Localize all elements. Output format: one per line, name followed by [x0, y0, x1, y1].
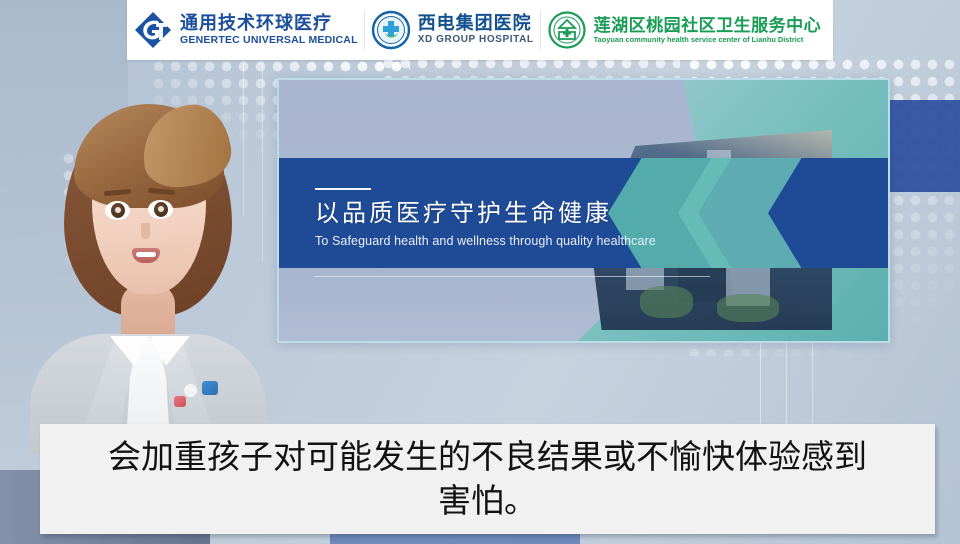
slide-text-block: 以品质医疗守护生命健康 To Safeguard health and well… — [315, 188, 656, 248]
avatar-eye — [105, 201, 130, 220]
gt-diamond-logo-icon — [133, 10, 173, 50]
brand-name-cn: 西电集团医院 — [418, 14, 534, 33]
avatar-lapel-pin — [184, 384, 197, 397]
brand-name-en: XD GROUP HOSPITAL — [418, 35, 534, 46]
avatar-nose — [141, 223, 150, 239]
avatar-lapel-pin — [174, 396, 186, 407]
avatar-eye-highlight — [115, 207, 121, 213]
brand-name-en: Taoyuan community health service center … — [594, 36, 822, 44]
brand-name-cn: 莲湖区桃园社区卫生服务中心 — [594, 17, 822, 35]
slide-title-cn: 以品质医疗守护生命健康 — [315, 201, 656, 228]
avatar-iris — [154, 202, 168, 217]
avatar-iris — [111, 203, 125, 218]
avatar-eye — [148, 200, 173, 219]
avatar-lapel-pin — [202, 381, 218, 395]
slide-rule — [315, 188, 371, 190]
brand-xd-group-hospital: 西电集团医院 XD GROUP HOSPITAL — [365, 0, 540, 60]
brand-name-cn: 通用技术环球医疗 — [180, 14, 358, 33]
subtitle-caption-box: 会加重孩子对可能发生的不良结果或不愉快体验感到 害怕。 — [40, 424, 935, 534]
brand-text: 通用技术环球医疗 GENERTEC UNIVERSAL MEDICAL — [180, 14, 358, 46]
presentation-slide: 以品质医疗守护生命健康 To Safeguard health and well… — [277, 78, 890, 343]
female-presenter-avatar — [22, 88, 272, 448]
brand-text: 西电集团医院 XD GROUP HOSPITAL — [418, 14, 534, 45]
slide-title-en: To Safeguard health and wellness through… — [315, 234, 656, 248]
community-health-seal-icon — [547, 10, 587, 50]
video-frame: 通用技术环球医疗 GENERTEC UNIVERSAL MEDICAL 西电集团… — [0, 0, 960, 544]
hospital-cross-seal-icon — [371, 10, 411, 50]
brand-genertec-universal-medical: 通用技术环球医疗 GENERTEC UNIVERSAL MEDICAL — [127, 0, 364, 60]
caption-line-2: 害怕。 — [438, 479, 537, 523]
brand-name-en: GENERTEC UNIVERSAL MEDICAL — [180, 35, 358, 46]
partner-logo-bar: 通用技术环球医疗 GENERTEC UNIVERSAL MEDICAL 西电集团… — [127, 0, 833, 60]
avatar-teeth — [136, 252, 156, 257]
slide-underline — [315, 276, 710, 277]
avatar-eye-highlight — [158, 206, 164, 212]
brand-text: 莲湖区桃园社区卫生服务中心 Taoyuan community health s… — [594, 17, 822, 44]
caption-line-1: 会加重孩子对可能发生的不良结果或不愉快体验感到 — [108, 435, 867, 479]
brand-taoyuan-community-health-center: 莲湖区桃园社区卫生服务中心 Taoyuan community health s… — [541, 0, 828, 60]
